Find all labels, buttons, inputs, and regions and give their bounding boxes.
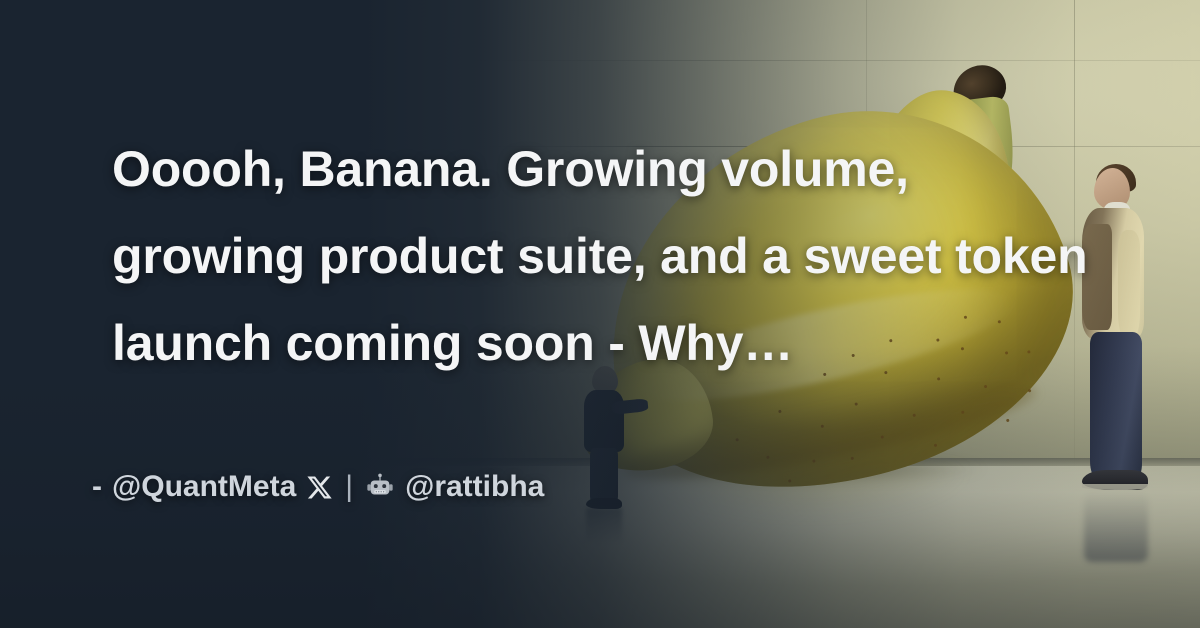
- attribution-separator: |: [343, 470, 355, 504]
- x-logo-icon[interactable]: [306, 474, 333, 501]
- social-share-card: Ooooh, Banana. Growing volume, growing p…: [0, 0, 1200, 628]
- robot-icon: [365, 472, 395, 502]
- attribution-dash: -: [92, 470, 102, 504]
- card-content: Ooooh, Banana. Growing volume, growing p…: [0, 0, 1200, 628]
- page-title: Ooooh, Banana. Growing volume, growing p…: [112, 126, 1112, 387]
- attribution: - @QuantMeta |: [92, 470, 544, 504]
- author-handle[interactable]: @QuantMeta: [112, 470, 296, 504]
- source-handle[interactable]: @rattibha: [405, 470, 544, 504]
